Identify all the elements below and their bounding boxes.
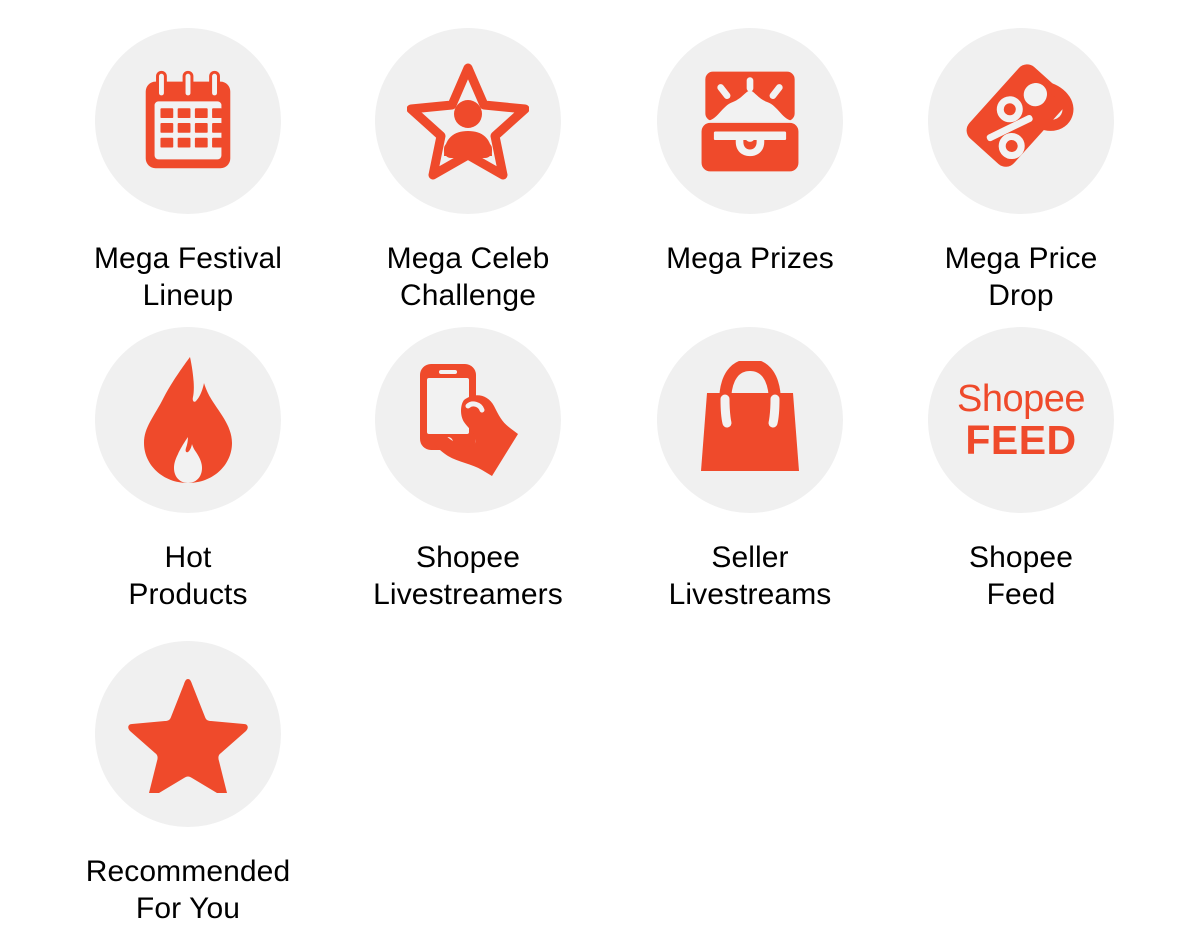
- filled-star-icon: [126, 675, 250, 793]
- tile-icon-circle[interactable]: [375, 28, 561, 214]
- shopping-bag-icon: [693, 361, 807, 479]
- tile-icon-circle[interactable]: [95, 641, 281, 827]
- tile-icon-circle[interactable]: [657, 327, 843, 513]
- calendar-icon: [129, 62, 247, 180]
- tile-label: Mega Prizes: [666, 240, 834, 277]
- shopee-feed-wordmark-top: Shopee: [957, 380, 1085, 418]
- tile-shopee-feed[interactable]: ShopeeFEEDShopee Feed: [881, 327, 1161, 613]
- category-icon-grid: Mega Festival Lineup Mega Celeb Challeng…: [0, 0, 1200, 952]
- tile-mega-festival-lineup[interactable]: Mega Festival Lineup: [48, 28, 328, 314]
- price-tag-percent-icon: [960, 62, 1082, 180]
- tile-label: Shopee Feed: [969, 539, 1073, 613]
- tile-mega-prizes[interactable]: Mega Prizes: [610, 28, 890, 277]
- tile-label: Seller Livestreams: [669, 539, 832, 613]
- tile-icon-circle[interactable]: [95, 28, 281, 214]
- tile-label: Shopee Livestreamers: [373, 539, 563, 613]
- tile-icon-circle[interactable]: [95, 327, 281, 513]
- tile-icon-circle[interactable]: ShopeeFEED: [928, 327, 1114, 513]
- tile-icon-circle[interactable]: [657, 28, 843, 214]
- shopee-feed-wordmark-bottom: FEED: [965, 420, 1076, 461]
- tile-label: Hot Products: [128, 539, 247, 613]
- treasure-chest-icon: [693, 64, 807, 178]
- tile-mega-celeb-challenge[interactable]: Mega Celeb Challenge: [328, 28, 608, 314]
- shopee-feed-wordmark-icon: ShopeeFEED: [957, 380, 1085, 461]
- tile-label: Mega Festival Lineup: [94, 240, 282, 314]
- tile-recommended-for-you[interactable]: Recommended For You: [48, 641, 328, 927]
- tile-hot-products[interactable]: Hot Products: [48, 327, 328, 613]
- tile-label: Mega Celeb Challenge: [387, 240, 550, 314]
- tile-mega-price-drop[interactable]: Mega Price Drop: [881, 28, 1161, 314]
- tile-label: Recommended For You: [86, 853, 291, 927]
- star-person-icon: [407, 62, 529, 180]
- tile-icon-circle[interactable]: [375, 327, 561, 513]
- tile-shopee-livestreamers[interactable]: Shopee Livestreamers: [328, 327, 608, 613]
- tile-seller-livestreams[interactable]: Seller Livestreams: [610, 327, 890, 613]
- hand-phone-icon: [406, 358, 530, 482]
- tile-label: Mega Price Drop: [945, 240, 1098, 314]
- tile-icon-circle[interactable]: [928, 28, 1114, 214]
- flame-icon: [132, 355, 244, 485]
